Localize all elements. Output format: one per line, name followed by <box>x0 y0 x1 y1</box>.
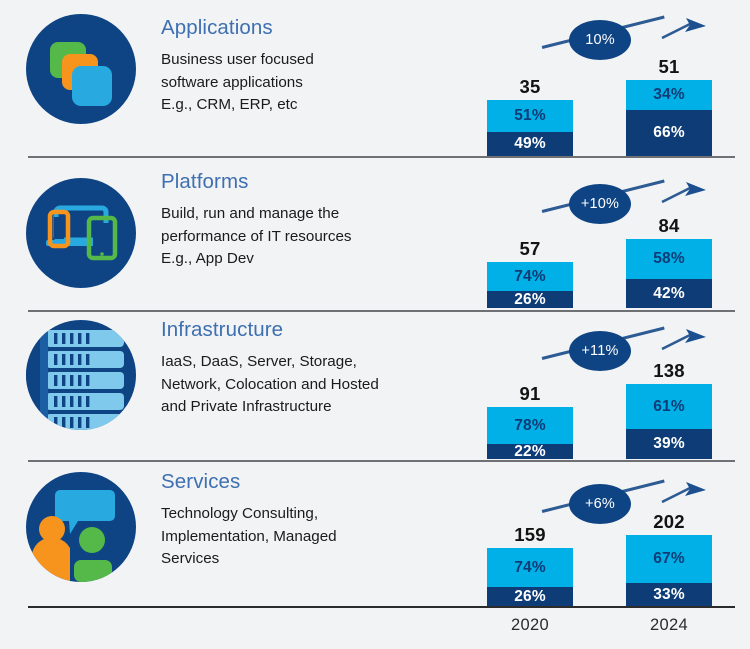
bar-top-pct: 74% <box>514 268 546 286</box>
section-title-platforms: Platforms <box>161 170 481 194</box>
bar-bottom-pct: 42% <box>653 285 685 303</box>
bar-top-pct: 51% <box>514 107 546 125</box>
desc-line: Build, run and manage the <box>161 203 481 226</box>
infrastructure-text-block: Infrastructure IaaS, DaaS, Server, Stora… <box>161 318 481 419</box>
bar-bottom-pct: 26% <box>514 588 546 606</box>
bar-top-pct: 34% <box>653 86 685 104</box>
bar-top-pct: 78% <box>514 417 546 435</box>
bar-segment-bottom: 42% <box>626 279 712 308</box>
bar-total-2024: 138 <box>626 360 712 382</box>
bar-segment-top: 67% <box>626 535 712 583</box>
bar-segment-bottom: 26% <box>487 291 573 308</box>
growth-value: +10% <box>581 196 619 212</box>
bar-total-2020: 91 <box>487 383 573 405</box>
services-text-block: Services Technology Consulting, Implemen… <box>161 470 481 571</box>
bar-bottom-pct: 66% <box>653 124 685 142</box>
bar-2020-applications: 51% 49% <box>487 100 573 156</box>
bar-top-pct: 67% <box>653 550 685 568</box>
growth-value: +11% <box>581 343 618 359</box>
growth-bubble: 10% <box>569 20 631 60</box>
growth-arrow-icon <box>660 480 708 506</box>
bar-bottom-pct: 33% <box>653 586 685 604</box>
desc-line: Technology Consulting, <box>161 503 481 526</box>
bar-segment-top: 51% <box>487 100 573 132</box>
section-title-applications: Applications <box>161 16 481 40</box>
growth-value: 10% <box>585 32 615 48</box>
bar-bottom-pct: 49% <box>514 135 546 153</box>
growth-value: +6% <box>585 496 615 512</box>
desc-line: software applications <box>161 72 481 95</box>
bar-segment-bottom: 66% <box>626 110 712 156</box>
section-services: Services Technology Consulting, Implemen… <box>0 460 750 649</box>
desc-line: and Private Infrastructure <box>161 396 481 419</box>
growth-arrow-icon <box>660 180 708 206</box>
desc-line: performance of IT resources <box>161 226 481 249</box>
platforms-text-block: Platforms Build, run and manage the perf… <box>161 170 481 271</box>
bar-segment-top: 74% <box>487 548 573 587</box>
growth-bubble: +11% <box>569 331 631 371</box>
bar-total-2020: 35 <box>487 76 573 98</box>
section-desc-services: Technology Consulting, Implementation, M… <box>161 503 481 571</box>
bar-2024-platforms: 58% 42% <box>626 239 712 308</box>
desc-line: E.g., App Dev <box>161 248 481 271</box>
bar-bottom-pct: 39% <box>653 435 685 453</box>
bar-segment-bottom: 39% <box>626 429 712 459</box>
bar-segment-bottom: 33% <box>626 583 712 606</box>
bar-total-2020: 57 <box>487 238 573 260</box>
bar-segment-bottom: 22% <box>487 444 573 459</box>
bar-bottom-pct: 26% <box>514 291 546 309</box>
growth-arrow-icon <box>660 327 708 353</box>
section-applications: Applications Business user focused softw… <box>0 0 750 162</box>
bar-bottom-pct: 22% <box>514 443 546 461</box>
section-title-infrastructure: Infrastructure <box>161 318 481 342</box>
axis-year-2020: 2020 <box>487 616 573 635</box>
growth-bubble: +10% <box>569 184 631 224</box>
bar-total-2024: 202 <box>626 511 712 533</box>
section-desc-platforms: Build, run and manage the performance of… <box>161 203 481 271</box>
axis-year-2024: 2024 <box>626 616 712 635</box>
bar-total-2024: 84 <box>626 215 712 237</box>
bar-2024-applications: 34% 66% <box>626 80 712 156</box>
infographic-page: Applications Business user focused softw… <box>0 0 750 649</box>
axis-baseline <box>28 606 735 608</box>
bar-total-2020: 159 <box>487 524 573 546</box>
section-desc-infrastructure: IaaS, DaaS, Server, Storage, Network, Co… <box>161 351 481 419</box>
section-infrastructure: Infrastructure IaaS, DaaS, Server, Stora… <box>0 310 750 462</box>
bar-segment-bottom: 26% <box>487 587 573 606</box>
server-rack-icon <box>26 320 136 430</box>
bar-segment-top: 78% <box>487 407 573 444</box>
bar-2024-services: 67% 33% <box>626 535 712 606</box>
bar-segment-top: 34% <box>626 80 712 110</box>
stacked-windows-icon <box>26 14 136 124</box>
devices-icon <box>26 178 136 288</box>
bar-total-2024: 51 <box>626 56 712 78</box>
section-platforms: Platforms Build, run and manage the perf… <box>0 158 750 310</box>
bar-top-pct: 74% <box>514 559 546 577</box>
bar-segment-top: 61% <box>626 384 712 429</box>
section-title-services: Services <box>161 470 481 494</box>
desc-line: Network, Colocation and Hosted <box>161 374 481 397</box>
applications-text-block: Applications Business user focused softw… <box>161 16 481 117</box>
bar-top-pct: 61% <box>653 398 685 416</box>
growth-bubble: +6% <box>569 484 631 524</box>
growth-arrow-icon <box>660 16 708 42</box>
desc-line: Business user focused <box>161 49 481 72</box>
desc-line: IaaS, DaaS, Server, Storage, <box>161 351 481 374</box>
bar-segment-top: 58% <box>626 239 712 279</box>
bar-segment-top: 74% <box>487 262 573 291</box>
section-desc-applications: Business user focused software applicati… <box>161 49 481 117</box>
people-chat-icon <box>26 472 136 582</box>
bar-top-pct: 58% <box>653 250 685 268</box>
desc-line: E.g., CRM, ERP, etc <box>161 94 481 117</box>
bar-segment-bottom: 49% <box>487 132 573 156</box>
bar-2020-platforms: 74% 26% <box>487 262 573 308</box>
bar-2024-infrastructure: 61% 39% <box>626 384 712 459</box>
desc-line: Implementation, Managed <box>161 526 481 549</box>
bar-2020-services: 74% 26% <box>487 548 573 606</box>
desc-line: Services <box>161 548 481 571</box>
bar-2020-infrastructure: 78% 22% <box>487 407 573 459</box>
